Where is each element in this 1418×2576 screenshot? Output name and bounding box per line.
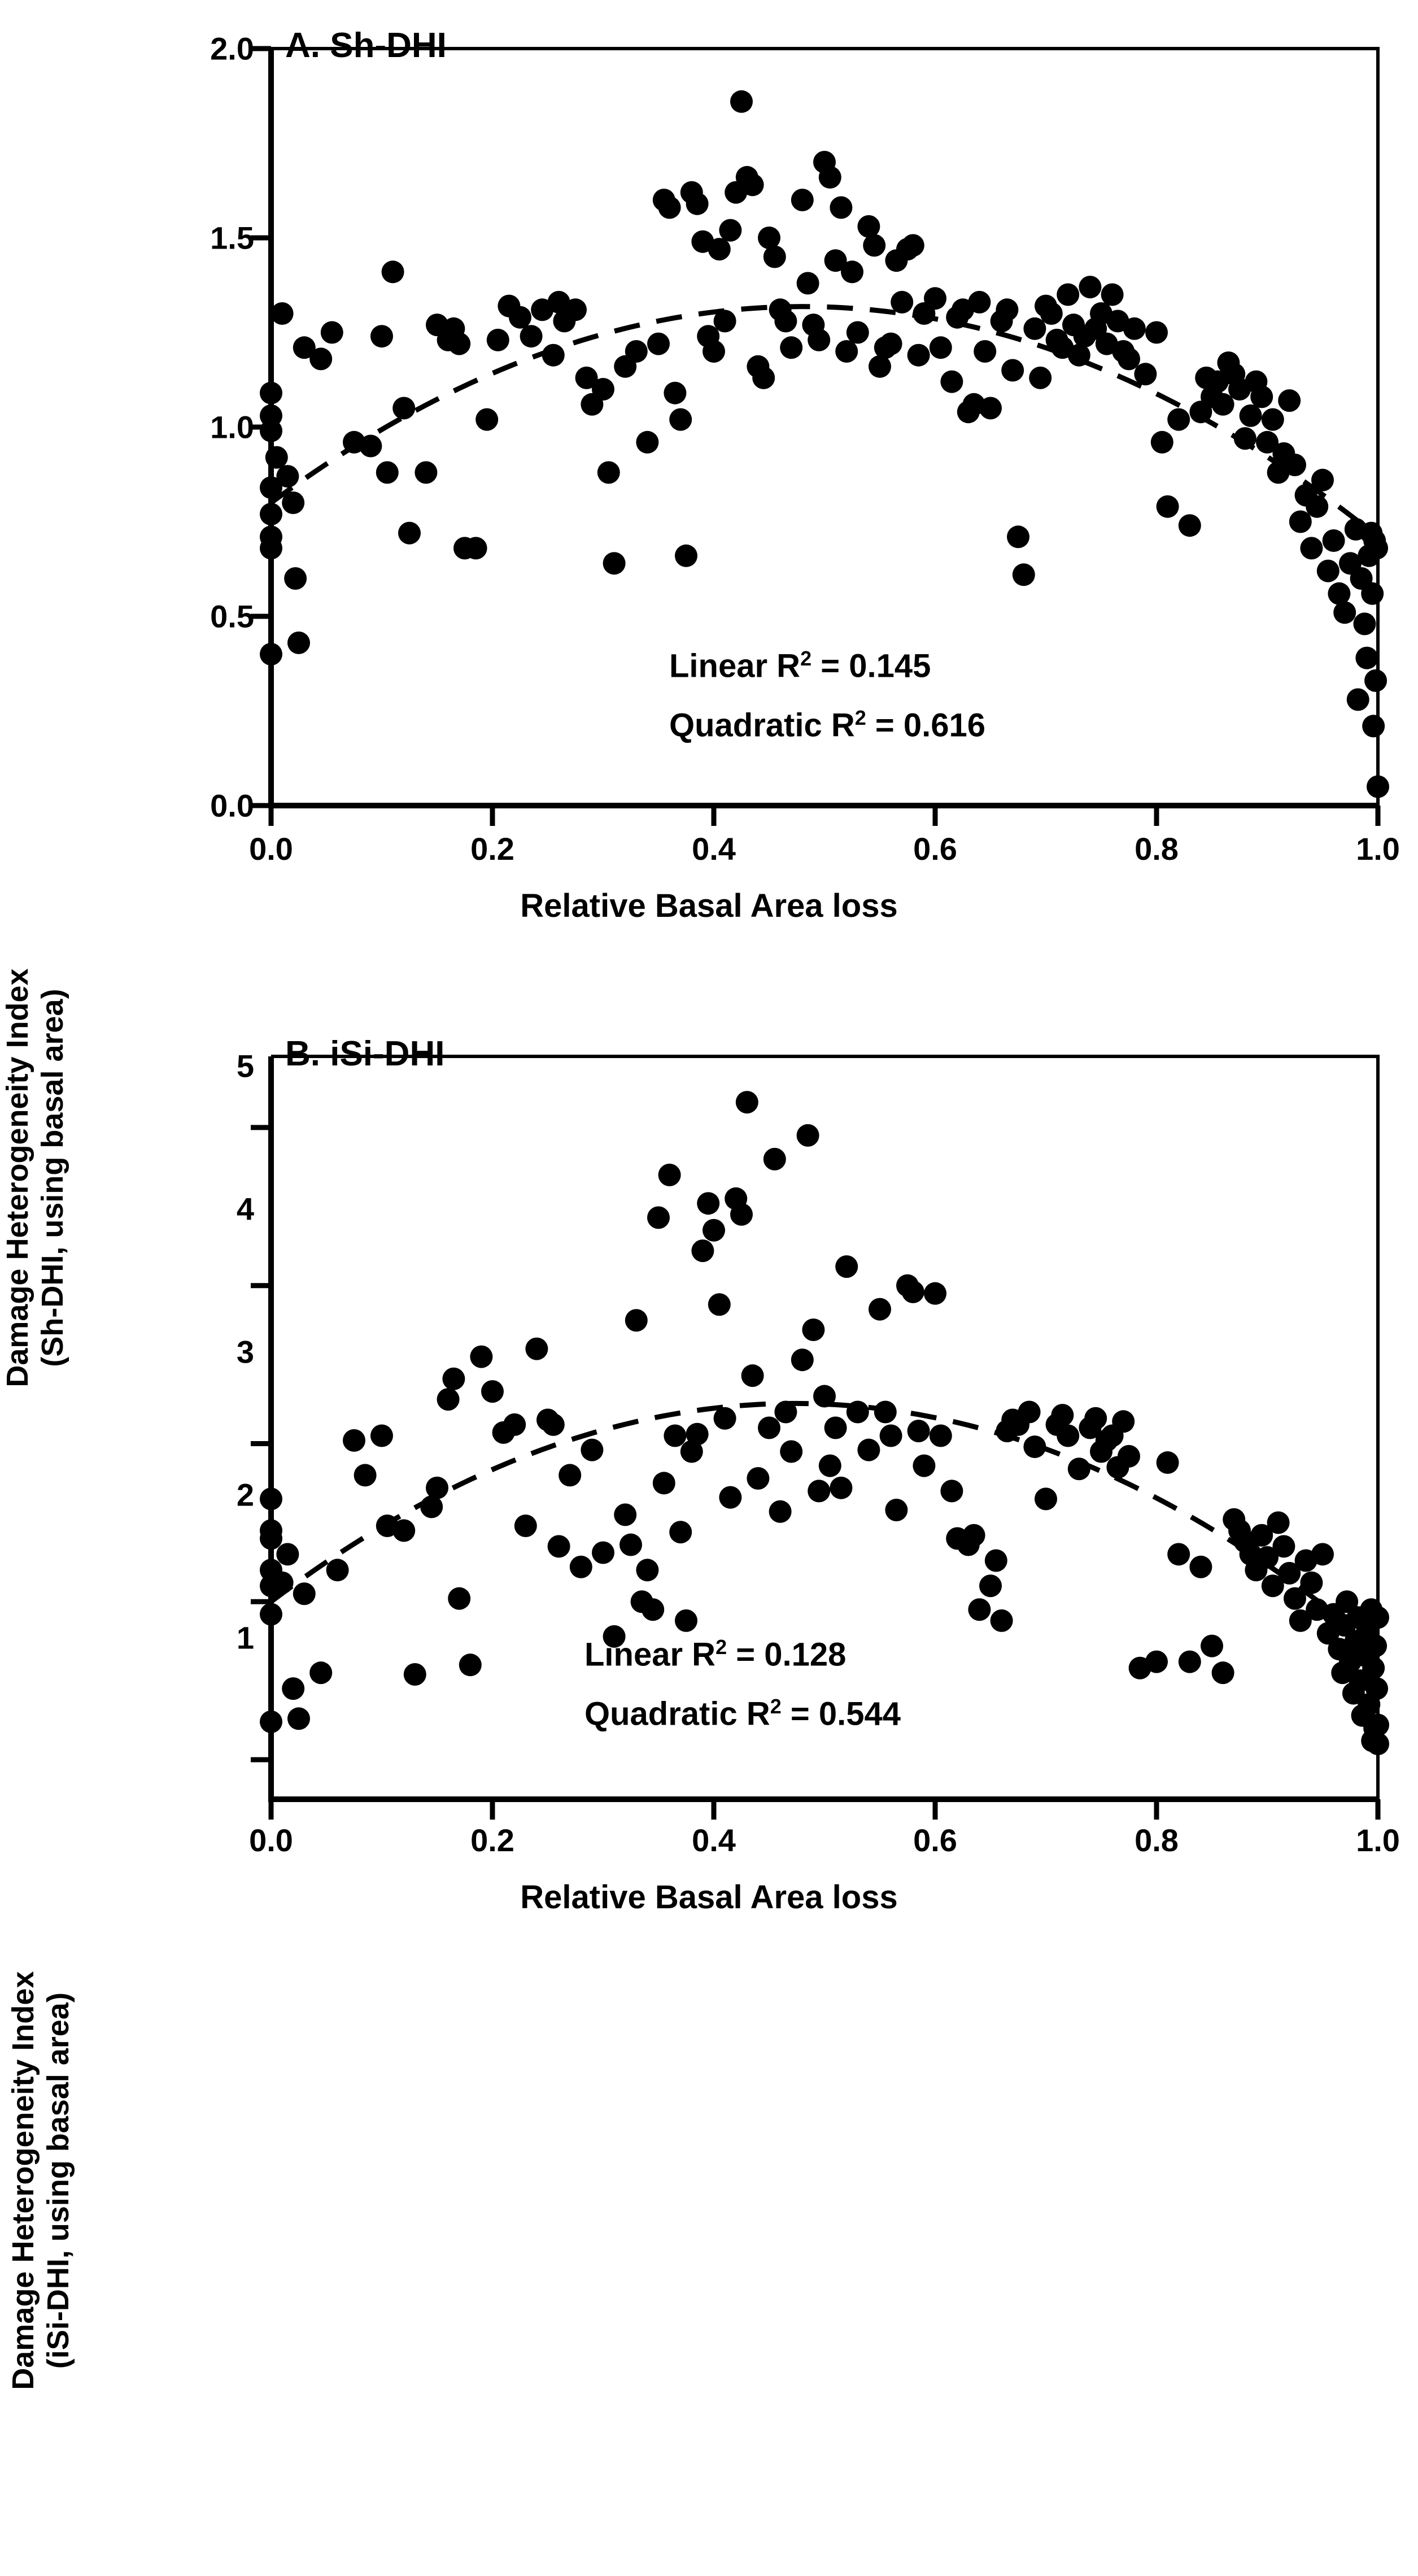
panel-a-plot-canvas — [0, 0, 1418, 960]
figure-root: Damage Heterogeneity Index (Sh-DHI, usin… — [0, 0, 1418, 1965]
panel-b-plot-canvas — [0, 994, 1418, 1965]
panel-a: Damage Heterogeneity Index (Sh-DHI, usin… — [0, 0, 1418, 960]
panel-b: Damage Heterogeneity Index (iSi-DHI, usi… — [0, 994, 1418, 1965]
